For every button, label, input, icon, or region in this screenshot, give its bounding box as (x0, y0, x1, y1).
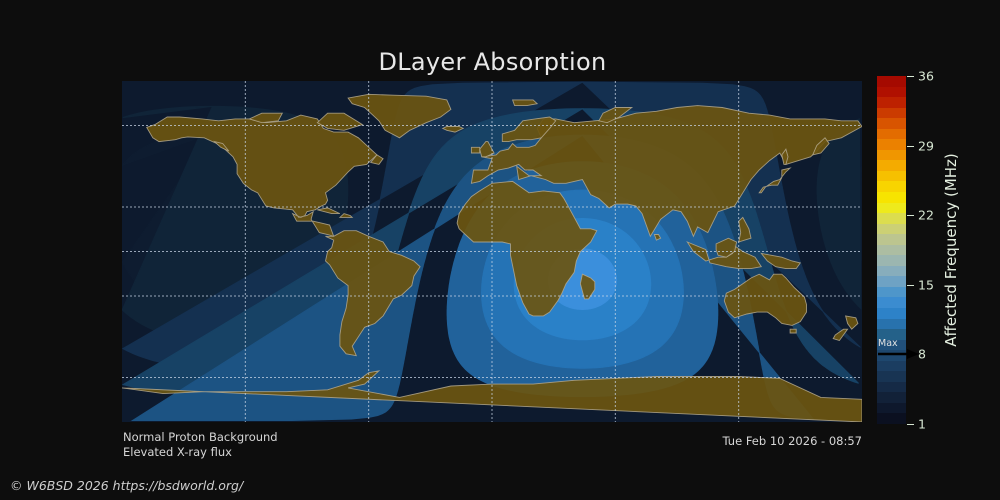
colorbar-band (877, 192, 906, 203)
colorbar-band (877, 392, 906, 403)
colorbar-band (877, 319, 906, 330)
colorbar-band (877, 108, 906, 119)
annotation-xray-flux: Elevated X-ray flux (123, 445, 232, 459)
world-map[interactable] (122, 81, 862, 422)
colorbar-band (877, 87, 906, 98)
arrow-right-icon (877, 348, 919, 360)
colorbar-axis-label-text: Affected Frequency (MHz) (942, 153, 960, 347)
colorbar-tick-mark (907, 285, 914, 286)
colorbar-band (877, 382, 906, 393)
colorbar-band (877, 276, 906, 287)
colorbar-band (877, 308, 906, 319)
colorbar-axis-label: Affected Frequency (MHz) (938, 76, 964, 424)
footer-copyright: © W6BSD 2026 https://bsdworld.org/ (10, 478, 243, 493)
colorbar-band (877, 181, 906, 192)
colorbar-band (877, 171, 906, 182)
colorbar-band (877, 224, 906, 235)
colorbar-band (877, 129, 906, 140)
colorbar-tick-mark (907, 424, 914, 425)
colorbar-band (877, 139, 906, 150)
colorbar[interactable]: 1815222936 (877, 76, 906, 424)
annotation-proton-background: Normal Proton Background (123, 430, 278, 444)
colorbar-band (877, 234, 906, 245)
figure-canvas: DLayer Absorption Normal Proton Backgrou… (0, 0, 1000, 500)
landmass (790, 329, 796, 333)
colorbar-band (877, 361, 906, 372)
colorbar-tick-label: 1 (918, 417, 926, 432)
colorbar-band (877, 76, 906, 87)
colorbar-gradient (877, 76, 906, 424)
colorbar-tick-label: 36 (918, 69, 934, 84)
colorbar-band (877, 266, 906, 277)
colorbar-tick-mark (907, 215, 914, 216)
colorbar-band (877, 287, 906, 298)
colorbar-tick-label: 22 (918, 208, 934, 223)
colorbar-tick-label: 29 (918, 138, 934, 153)
colorbar-tick-label: 8 (918, 347, 926, 362)
colorbar-band (877, 213, 906, 224)
map-svg (122, 81, 862, 422)
colorbar-band (877, 255, 906, 266)
landmass (513, 100, 538, 106)
colorbar-tick-label: 15 (918, 277, 934, 292)
colorbar-band (877, 297, 906, 308)
colorbar-band (877, 150, 906, 161)
colorbar-band (877, 160, 906, 171)
page-title: DLayer Absorption (0, 48, 985, 76)
colorbar-tick-mark (907, 76, 914, 77)
colorbar-band (877, 245, 906, 256)
colorbar-band (877, 203, 906, 214)
landmass (471, 147, 479, 153)
max-marker: Max (877, 339, 919, 361)
colorbar-band (877, 403, 906, 414)
colorbar-tick-mark (907, 146, 914, 147)
colorbar-band (877, 97, 906, 108)
colorbar-band (877, 413, 906, 424)
colorbar-band (877, 118, 906, 129)
timestamp: Tue Feb 10 2026 - 08:57 (723, 434, 862, 448)
colorbar-band (877, 371, 906, 382)
